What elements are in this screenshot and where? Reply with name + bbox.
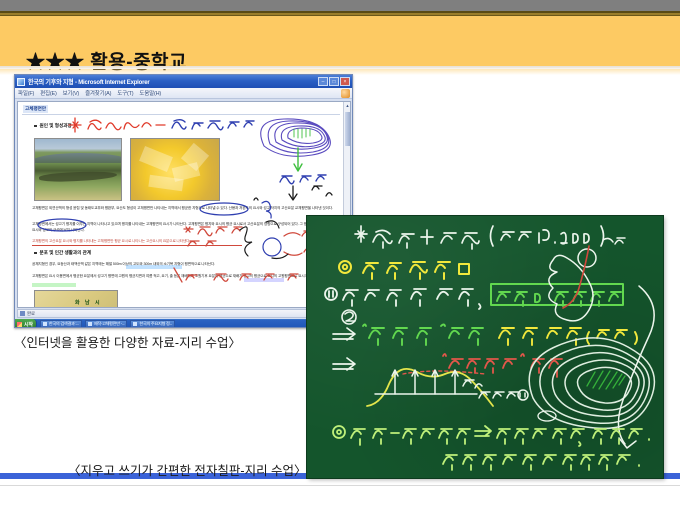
document-heading-tag: 고체평면만	[23, 105, 48, 113]
hill-ridge	[34, 153, 122, 163]
caption-internet-lesson: 〈인터넷을 활용한 다양한 자료-지리 수업〉	[14, 332, 241, 351]
document-paragraph: 공체지형인 경우, 요등산과 태백산맥 같은 지역에는 해발 500m 이상의 …	[32, 262, 337, 268]
taskbar-item[interactable]: 한국의 검색결과 :...	[40, 320, 82, 328]
document-paragraph: 고체평면은 외연산맥의 형성 윤립 및 동태도교부와 평완부, 요산도 형성이 …	[32, 206, 337, 212]
menu-item-tools[interactable]: 도구(T)	[117, 89, 133, 97]
title-banner: ★★★ 활용-중학교	[0, 16, 680, 66]
taskbar-item-label: 한국의 검색결과 :...	[49, 321, 79, 327]
document-paragraph-highlighted: 고체평면의 고산요분 요시와 평지를 나타내는 고체평면만 평균 요시로 나타나…	[32, 239, 247, 245]
bullet-square-icon	[34, 125, 37, 128]
red-underline	[32, 245, 242, 246]
map-city-label: 화 남 시	[75, 299, 102, 306]
ie-window-title: 한국의 기후와 지형 - Microsoft Internet Explorer	[28, 77, 318, 86]
start-button[interactable]: 시작	[15, 319, 37, 328]
menu-item-file[interactable]: 파일(F)	[18, 89, 34, 97]
status-page-icon	[20, 311, 25, 316]
top-gray-bar	[0, 0, 680, 11]
taskbar-item-label: 제작-고체평면만 -...	[94, 321, 125, 327]
green-highlight	[32, 283, 76, 287]
ie-page-icon	[88, 322, 92, 326]
caption-eboard-lesson: 〈지우고 쓰기가 간편한 전자칠판-지리 수업〉	[68, 460, 307, 479]
scrollbar-thumb[interactable]	[345, 112, 350, 146]
windows-taskbar[interactable]: 시작 한국의 검색결과 :... 제작-고체평면만 -... 한국의 주요지형 …	[15, 319, 353, 328]
status-text: 완료	[27, 311, 35, 317]
photo-yellow-field	[130, 138, 220, 201]
window-controls[interactable]: – □ ×	[318, 77, 350, 86]
document-divider	[22, 114, 340, 115]
menu-item-edit[interactable]: 편집(E)	[40, 89, 56, 97]
ie-statusbar: 완료 인터넷	[17, 309, 351, 318]
ie-menubar[interactable]: 파일(F) 편집(E) 보기(V) 즐겨찾기(A) 도구(T) 도움말(H)	[15, 88, 352, 99]
windows-flag-icon	[17, 322, 22, 327]
taskbar-item[interactable]: 한국의 주요지형 정...	[130, 320, 175, 328]
menu-item-favorites[interactable]: 즐겨찾기(A)	[85, 89, 111, 97]
field-patch	[139, 146, 173, 172]
ie-logo-icon	[17, 78, 25, 86]
bullet-square-icon	[34, 252, 37, 255]
chalkboard-handwriting	[307, 216, 663, 478]
violet-highlight	[244, 278, 284, 282]
close-icon[interactable]: ×	[340, 77, 350, 86]
minimize-icon[interactable]: –	[318, 77, 328, 86]
document-bullet-sub: 분포 및 인간 생활과의 관계	[34, 250, 91, 256]
bullet-label: 원인 및 형성과정	[40, 123, 72, 129]
slide-canvas: ★★★ 활용-중학교 한국의 기후와 지형 - Microsoft Intern…	[0, 0, 680, 510]
ie-page-icon	[133, 322, 137, 326]
electronic-chalkboard-photo	[307, 216, 663, 478]
menu-item-help[interactable]: 도움말(H)	[139, 89, 161, 97]
blue-highlight	[126, 265, 182, 269]
document-bullet-main: 원인 및 형성과정	[34, 123, 72, 129]
ie-page-icon	[43, 322, 47, 326]
photo-green-hills	[34, 138, 122, 201]
start-label: 시작	[24, 321, 33, 328]
document-paragraph: 고체평면은 요시 이용면에서 평균한 요분에서 성고기 평면에 고원의 평균지면…	[32, 274, 337, 280]
footer-separator	[0, 485, 680, 486]
menu-item-view[interactable]: 보기(V)	[63, 89, 79, 97]
taskbar-item[interactable]: 제작-고체평면만 -...	[85, 320, 128, 328]
ie-titlebar[interactable]: 한국의 기후와 지형 - Microsoft Internet Explorer…	[15, 75, 352, 88]
document-paragraph: 고체평면에서는 성고기 평지를 이루는 지역이 나타나고 있으며 평지를 나타내…	[32, 222, 337, 233]
maximize-icon[interactable]: □	[329, 77, 339, 86]
ie-document-area: 고체평면만 원인 및 형성과정	[17, 101, 351, 308]
photo-map-thumbnail: 화 남 시	[34, 290, 118, 308]
hill-gully	[39, 170, 117, 183]
internet-explorer-window[interactable]: 한국의 기후와 지형 - Microsoft Internet Explorer…	[14, 74, 353, 328]
taskbar-item-label: 한국의 주요지형 정...	[139, 321, 172, 327]
bullet-sub-label: 분포 및 인간 생활과의 관계	[40, 250, 92, 256]
ie-brand-icon	[341, 89, 350, 98]
scroll-up-arrow-icon[interactable]: ▲	[345, 103, 350, 109]
